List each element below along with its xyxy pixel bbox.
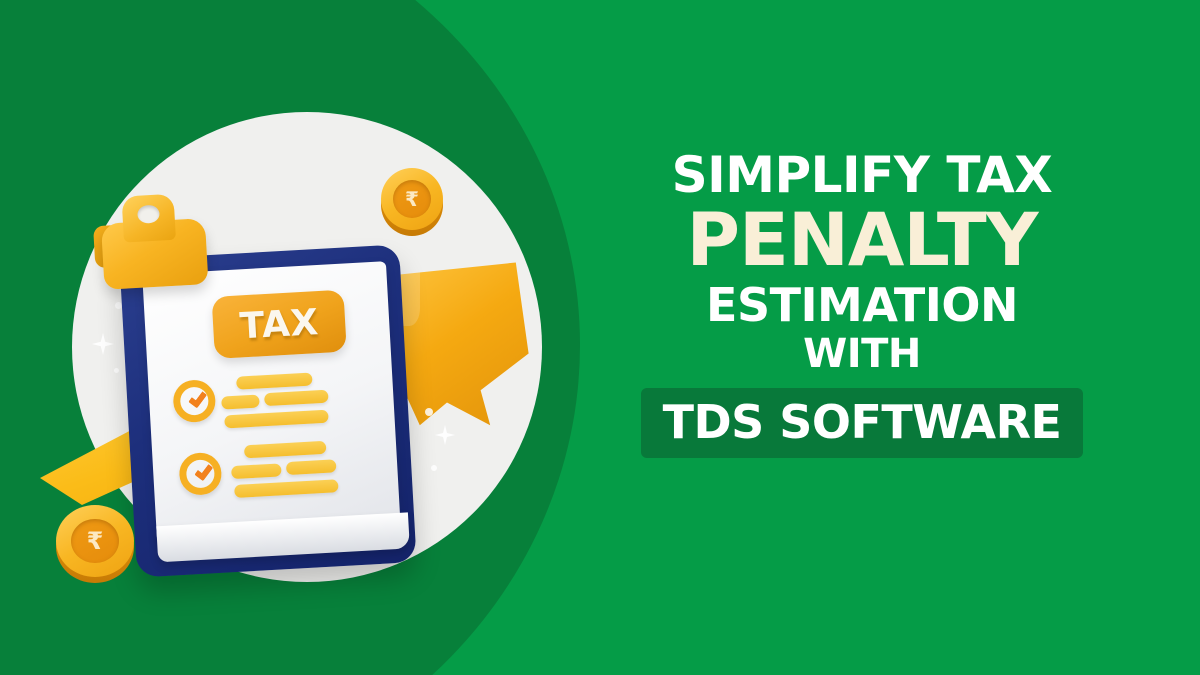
sparkle-icon [92,333,114,355]
rupee-coin-icon: ₹ [56,505,134,577]
rupee-symbol: ₹ [405,187,419,211]
headline-line-4: WITH [612,334,1112,374]
text-bar [234,479,339,498]
headline-block: SIMPLIFY TAX PENALTY ESTIMATION WITH TDS… [612,150,1112,458]
tax-badge: TAX [212,290,347,359]
clipboard-paper: TAX [142,261,401,542]
coin-inner: ₹ [71,519,119,564]
clipboard: TAX [119,244,416,577]
dot-icon [425,408,433,416]
tax-illustration: TAX [0,0,600,675]
text-bar [236,372,313,389]
text-bar [264,390,329,407]
check-circle-icon [172,379,216,423]
headline-line-5: TDS SOFTWARE [663,399,1062,445]
headline-line-1: SIMPLIFY TAX [612,150,1112,200]
check-mark-icon [194,461,213,481]
clipboard-clip-icon [91,190,214,292]
coin-face: ₹ [381,168,443,230]
headline-highlight-box: TDS SOFTWARE [641,388,1084,458]
dot-icon [114,368,119,373]
rupee-symbol: ₹ [87,527,104,555]
check-circle-icon [178,452,222,496]
sparkle-icon [435,425,455,445]
rupee-coin-icon: ₹ [381,168,443,230]
coin-face: ₹ [56,505,134,577]
text-bar [231,463,282,479]
coin-inner: ₹ [393,180,431,218]
banner: TAX [0,0,1200,675]
dot-icon [431,465,437,471]
tax-badge-label: TAX [239,302,320,347]
text-bar [224,410,329,429]
text-bar [244,441,327,459]
text-bar [286,459,337,475]
check-mark-icon [188,388,207,408]
text-bar [221,394,260,409]
headline-line-3: ESTIMATION [612,282,1112,328]
headline-line-2: PENALTY [612,204,1112,277]
